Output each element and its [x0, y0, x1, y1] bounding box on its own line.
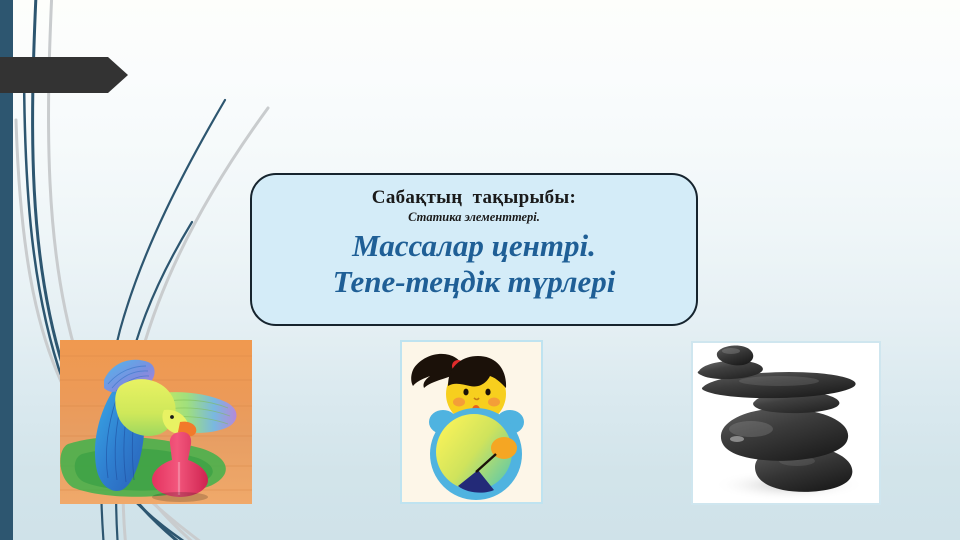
image-balanced-stones: [691, 341, 881, 505]
arrow-banner-shape: [0, 57, 128, 93]
lesson-subtitle: Статика элементтері.: [408, 211, 540, 224]
lesson-topic-label: Сабақтың тақырыбы:: [372, 188, 576, 208]
title-card: Сабақтың тақырыбы: Статика элементтері. …: [250, 173, 698, 326]
presentation-slide: Сабақтың тақырыбы: Статика элементтері. …: [0, 0, 960, 540]
heading-line-1: Массалар центрі.: [352, 228, 596, 265]
heading-line-2: Тепе-теңдік түрлері: [333, 264, 616, 301]
image-roly-poly-doll: [400, 340, 543, 504]
image-balancing-bird-toy: [60, 340, 252, 504]
